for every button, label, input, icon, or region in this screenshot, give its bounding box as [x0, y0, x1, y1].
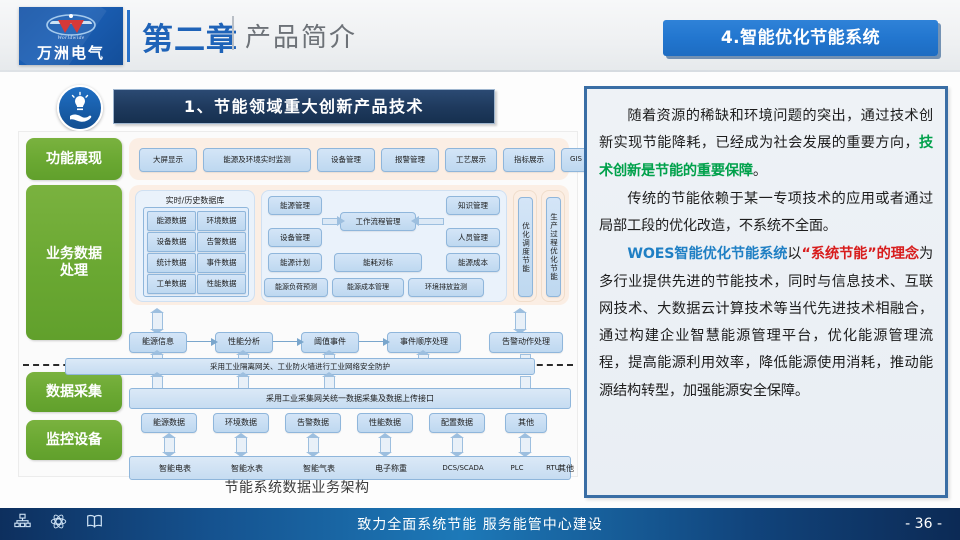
business-box[interactable]: 能源成本管理	[332, 278, 404, 297]
chapter-title: 第二章	[142, 14, 238, 59]
function-box[interactable]: 工艺展示	[445, 148, 497, 172]
business-box-workflow[interactable]: 工作流程管理	[340, 212, 416, 231]
function-box[interactable]: 报警管理	[381, 148, 439, 172]
device-label[interactable]: 智能水表	[214, 457, 280, 479]
business-function-group: 能源管理 设备管理 工作流程管理 知识管理 人员管理 能源计划 能耗对标 能源成…	[261, 190, 507, 302]
chapter-subtitle: 产品简介	[245, 17, 357, 54]
workflow-arrow-right	[418, 218, 444, 225]
db-item[interactable]: 告警数据	[197, 232, 246, 252]
page-number: - 36 -	[905, 508, 942, 540]
optimize-column-production[interactable]: 生产过程优化节能	[546, 197, 561, 297]
lane-label: 业务数据 处理	[46, 246, 102, 278]
logo-subtext: Worldwide	[19, 35, 123, 41]
device-label[interactable]: 智能电表	[142, 457, 208, 479]
function-display-panel: 大屏显示 能源及环境实时监测 设备管理 报警管理 工艺展示 指标展示 GIS O…	[129, 138, 569, 180]
flow-box-alarm-action[interactable]: 告警动作处理	[489, 332, 563, 353]
business-box[interactable]: 能耗对标	[334, 253, 422, 272]
business-box[interactable]: 能源计划	[268, 253, 322, 272]
business-box[interactable]: 环境排放监测	[408, 278, 484, 297]
function-box[interactable]: 能源及环境实时监测	[203, 148, 311, 172]
chapter-separator	[232, 16, 234, 50]
slide-canvas: Worldwide 万洲电气 第二章 产品简介 4.智能优化节能系统 1、节能领…	[0, 0, 960, 540]
p1-text-a: 随着资源的稀缺和环境问题的突出，通过技术创新实现节能降耗，已经成为社会发展的重要…	[599, 108, 933, 151]
device-label[interactable]: 智能气表	[286, 457, 352, 479]
business-box-energy-mgmt[interactable]: 能源管理	[268, 196, 322, 215]
db-item[interactable]: 能源数据	[147, 211, 196, 231]
lightbulb-hand-icon	[57, 85, 103, 131]
business-box-device-mgmt[interactable]: 设备管理	[268, 228, 322, 247]
connector-up-down	[308, 437, 319, 453]
optimize-production-wrap: 生产过程优化节能	[541, 190, 565, 302]
data-type-box[interactable]: 环境数据	[213, 413, 269, 433]
database-title: 实时/历史数据库	[136, 195, 254, 206]
company-logo: Worldwide 万洲电气	[19, 7, 123, 65]
device-label[interactable]: 电子称重	[358, 457, 424, 479]
connector-up-down	[380, 437, 391, 453]
collection-gateway-bar[interactable]: 采用工业采集网关统一数据采集及数据上传接口	[129, 388, 571, 409]
connector-up-down	[520, 437, 531, 453]
business-data-panel: 实时/历史数据库 能源数据 环境数据 设备数据 告警数据 统计数据 事件数据 工…	[129, 185, 569, 305]
p3-text-b: 以	[787, 246, 801, 262]
business-box[interactable]: 能源负荷预测	[264, 278, 328, 297]
connector-up-down	[515, 312, 526, 330]
description-panel: 随着资源的稀缺和环境问题的突出，通过技术创新实现节能降耗，已经成为社会发展的重要…	[584, 86, 948, 498]
optimize-dispatch-wrap: 优化调度节能	[513, 190, 537, 302]
logo-mark-icon	[45, 12, 97, 36]
db-item[interactable]: 统计数据	[147, 253, 196, 273]
db-item[interactable]: 工单数据	[147, 274, 196, 294]
paragraph-3: WOES智能优化节能系统以“系统节能”的理念为多行业提供先进的节能技术，同时与信…	[599, 241, 933, 405]
connector-up-down	[236, 437, 247, 453]
lane-label: 数据采集	[46, 384, 102, 400]
header-divider	[0, 70, 960, 72]
p3-highlight-woes: WOES智能优化节能系统	[627, 246, 787, 262]
db-item[interactable]: 设备数据	[147, 232, 196, 252]
security-gateway-bar[interactable]: 采用工业隔离网关、工业防火墙进行工业网络安全防护	[65, 358, 535, 375]
workflow-arrow-left	[322, 218, 338, 225]
function-box[interactable]: 设备管理	[317, 148, 375, 172]
paragraph-2: 传统的节能依赖于某一专项技术的应用或者通过局部工段的优化改造，不系统不全面。	[599, 186, 933, 241]
logo-company-name: 万洲电气	[19, 42, 123, 63]
topic-badge-label: 4.智能优化节能系统	[663, 20, 938, 56]
connector-up-down	[164, 437, 175, 453]
lane-label: 功能展现	[46, 151, 102, 167]
chapter-accent-bar	[127, 10, 130, 62]
topic-badge: 4.智能优化节能系统	[663, 20, 938, 56]
optimize-column-dispatch[interactable]: 优化调度节能	[518, 197, 533, 297]
data-type-box[interactable]: 能源数据	[141, 413, 197, 433]
p3-text-d: 为多行业提供先进的节能技术，同时与信息技术、互联网技术、大数据云计算技术等当代先…	[599, 246, 933, 398]
business-box-staff-mgmt[interactable]: 人员管理	[446, 228, 500, 247]
lane-monitoring-devices: 监控设备	[26, 420, 122, 460]
business-box-knowledge-mgmt[interactable]: 知识管理	[446, 196, 500, 215]
data-type-box[interactable]: 配置数据	[429, 413, 485, 433]
flow-arrow	[359, 341, 383, 342]
footer-slogan: 致力全面系统节能 服务能管中心建设	[0, 508, 960, 540]
flow-arrow	[187, 341, 211, 342]
diagram-caption: 节能系统数据业务架构	[18, 477, 576, 497]
lane-data-collection: 数据采集	[26, 372, 122, 412]
data-type-box[interactable]: 其他	[505, 413, 547, 433]
connector-up-down	[452, 437, 463, 453]
device-label[interactable]: DCS/SCADA	[428, 457, 498, 479]
lane-label: 监控设备	[46, 432, 102, 448]
lane-function-display: 功能展现	[26, 138, 122, 180]
paragraph-1: 随着资源的稀缺和环境问题的突出，通过技术创新实现节能降耗，已经成为社会发展的重要…	[599, 103, 933, 185]
connector-up-down	[152, 312, 163, 330]
db-item[interactable]: 环境数据	[197, 211, 246, 231]
database-inner-frame: 能源数据 环境数据 设备数据 告警数据 统计数据 事件数据 工单数据 性能数据	[143, 207, 249, 297]
slide-header: Worldwide 万洲电气 第二章 产品简介 4.智能优化节能系统	[0, 0, 960, 72]
architecture-diagram: 功能展现 业务数据 处理 数据采集 监控设备 大屏显示 能源及环境实时监测 设备…	[18, 131, 578, 477]
flow-arrow	[273, 341, 297, 342]
p3-highlight-concept: “系统节能”的理念	[802, 246, 919, 262]
section-banner-label: 1、节能领域重大创新产品技术	[114, 90, 494, 123]
db-item[interactable]: 事件数据	[197, 253, 246, 273]
section-banner: 1、节能领域重大创新产品技术	[113, 89, 495, 124]
lane-business-data: 业务数据 处理	[26, 185, 122, 340]
data-type-box[interactable]: 性能数据	[357, 413, 413, 433]
p1-text-b: 。	[753, 163, 767, 179]
database-group: 实时/历史数据库 能源数据 环境数据 设备数据 告警数据 统计数据 事件数据 工…	[135, 190, 255, 302]
data-type-box[interactable]: 告警数据	[285, 413, 341, 433]
function-box[interactable]: 大屏显示	[139, 148, 197, 172]
db-item[interactable]: 性能数据	[197, 274, 246, 294]
function-box[interactable]: 指标展示	[503, 148, 555, 172]
business-box[interactable]: 能源成本	[446, 253, 500, 272]
